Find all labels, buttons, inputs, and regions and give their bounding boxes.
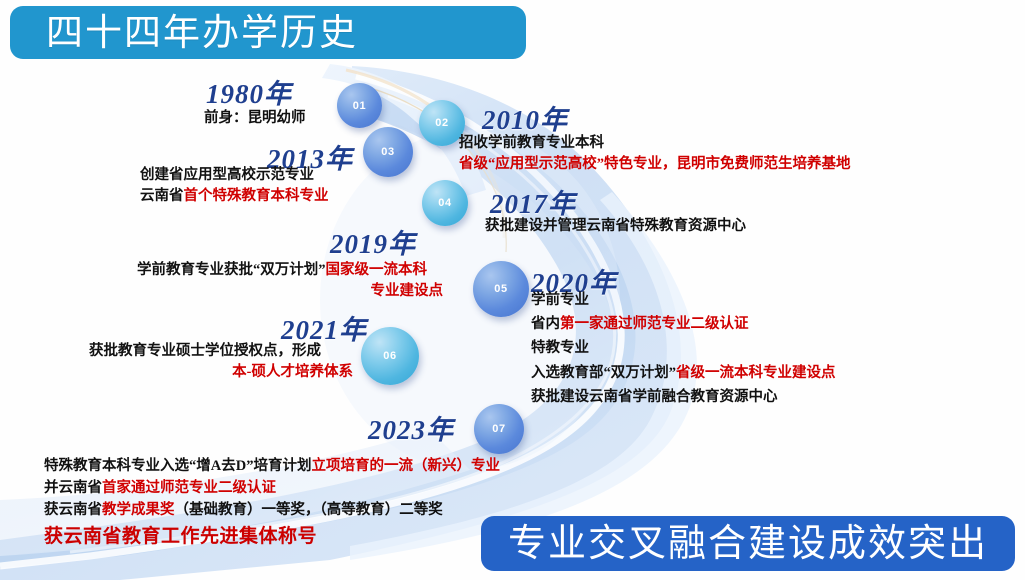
- year-label-1980: 1980年: [206, 72, 292, 111]
- entry-text-1980: 前身：昆明幼师: [204, 108, 306, 129]
- timeline-node-03-label: 03: [381, 146, 394, 158]
- entry-2013-line-1: 创建省应用型高校示范专业: [140, 165, 329, 186]
- year-label-2023: 2023年: [368, 408, 454, 447]
- entry-2023-line-3: 获云南省教学成果奖（基础教育）一等奖，（高等教育）二等奖: [44, 499, 500, 521]
- timeline-node-06-label: 06: [383, 350, 396, 362]
- entry-text-2023: 特殊教育本科专业入选“增A去D”培育计划立项培育的一流（新兴）专业 并云南省首家…: [44, 455, 500, 552]
- footer-banner: 专业交叉融合建设成效突出: [481, 516, 1015, 571]
- title-banner: 四十四年办学历史: [10, 6, 526, 59]
- timeline-node-04-label: 04: [438, 197, 451, 209]
- title-banner-text: 四十四年办学历史: [46, 14, 358, 51]
- timeline-node-05-label: 05: [494, 283, 507, 295]
- entry-2021-line-1: 获批教育专业硕士学位授权点，形成: [89, 341, 353, 362]
- timeline-node-05[interactable]: 05: [473, 261, 529, 317]
- timeline-node-04[interactable]: 04: [422, 180, 468, 226]
- entry-2020-line-4: 入选教育部“双万计划”省级一流本科专业建设点: [531, 361, 836, 385]
- entry-2010-line-1: 招收学前教育专业本科: [459, 133, 851, 154]
- entry-2023-line-4: 获云南省教育工作先进集体称号: [44, 523, 500, 552]
- entry-2017-line-1: 获批建设并管理云南省特殊教育资源中心: [485, 216, 746, 237]
- entry-2023-line-2: 并云南省首家通过师范专业二级认证: [44, 477, 500, 499]
- entry-2013-line-2: 云南省首个特殊教育本科专业: [140, 186, 329, 207]
- entry-text-2013: 创建省应用型高校示范专业 云南省首个特殊教育本科专业: [140, 165, 329, 206]
- timeline-node-07-label: 07: [492, 423, 505, 435]
- year-label-2010: 2010年: [482, 98, 568, 137]
- entry-text-2010: 招收学前教育专业本科 省级“应用型示范高校”特色专业，昆明市免费师范生培养基地: [459, 133, 851, 174]
- entry-text-2021: 获批教育专业硕士学位授权点，形成 本-硕人才培养体系: [89, 341, 353, 382]
- entry-1980-line-1: 前身：昆明幼师: [204, 108, 306, 129]
- timeline-node-02-label: 02: [435, 117, 448, 129]
- footer-banner-text: 专业交叉融合建设成效突出: [508, 525, 988, 563]
- entry-2021-line-2: 本-硕人才培养体系: [89, 362, 353, 383]
- entry-2023-line-1: 特殊教育本科专业入选“增A去D”培育计划立项培育的一流（新兴）专业: [44, 455, 500, 477]
- entry-text-2017: 获批建设并管理云南省特殊教育资源中心: [485, 216, 746, 237]
- timeline-node-07[interactable]: 07: [474, 404, 524, 454]
- entry-2020-line-3: 特教专业: [531, 336, 836, 360]
- timeline-node-03[interactable]: 03: [363, 127, 413, 177]
- entry-2020-line-5: 获批建设云南省学前融合教育资源中心: [531, 385, 836, 409]
- timeline-node-06[interactable]: 06: [361, 327, 419, 385]
- timeline-node-01[interactable]: 01: [337, 83, 382, 128]
- entry-2019-line-1: 学前教育专业获批“双万计划”国家级一流本科: [137, 260, 443, 281]
- slide-canvas: 四十四年办学历史 01 02 03 04 05 06 07 1980年 2010…: [0, 0, 1025, 580]
- entry-text-2020: 学前专业 省内第一家通过师范专业二级认证 特教专业 入选教育部“双万计划”省级一…: [531, 288, 836, 409]
- entry-2020-line-1: 学前专业: [531, 288, 836, 312]
- entry-2010-line-2: 省级“应用型示范高校”特色专业，昆明市免费师范生培养基地: [459, 154, 851, 175]
- timeline-node-01-label: 01: [353, 100, 366, 112]
- entry-2020-line-2: 省内第一家通过师范专业二级认证: [531, 312, 836, 336]
- year-label-2019: 2019年: [330, 222, 416, 261]
- entry-2019-line-2: 专业建设点: [137, 281, 443, 302]
- entry-text-2019: 学前教育专业获批“双万计划”国家级一流本科 专业建设点: [137, 260, 443, 301]
